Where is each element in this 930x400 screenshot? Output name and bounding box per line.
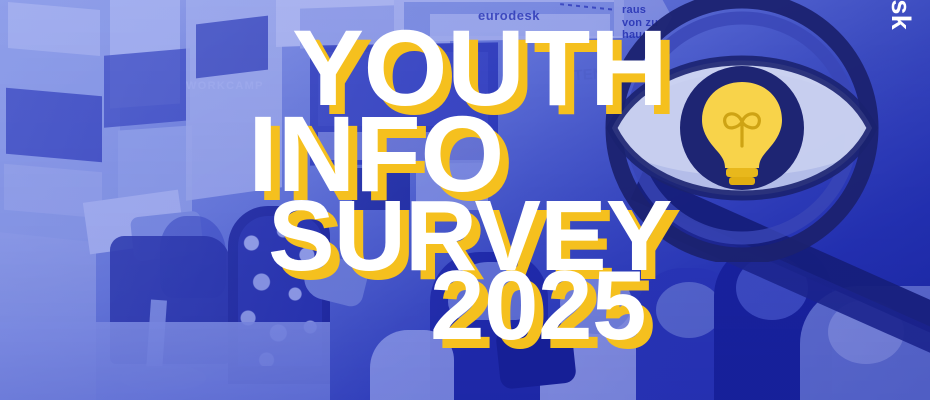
youth-info-survey-banner: eurodesk rausvon zuhaus uslandsau OSTENL… (0, 0, 930, 400)
eurodesk-wordmark-desk: desk (886, 0, 916, 30)
eurodesk-wordmark: eurodesk (887, 0, 914, 30)
eurodesk-eye-lightbulb-icon (596, 0, 888, 262)
